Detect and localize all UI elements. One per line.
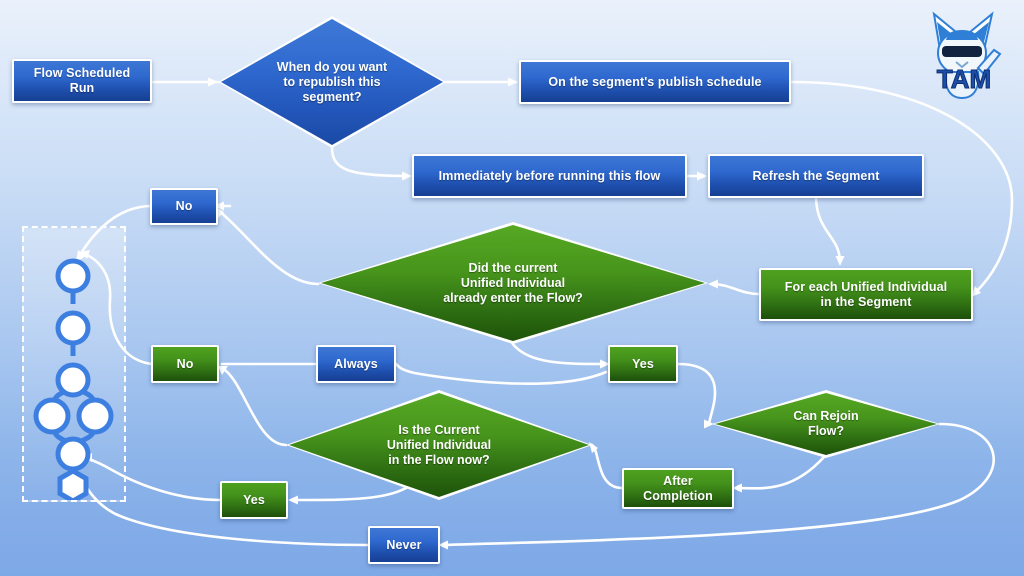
- flow-node-5: [58, 439, 88, 469]
- node-label: Never: [386, 538, 421, 553]
- flow-node-exit-hexagon: [60, 471, 86, 500]
- node-can-rejoin-flow[interactable]: Can Rejoin Flow?: [712, 390, 940, 458]
- node-label: Flow Scheduled Run: [34, 66, 131, 96]
- diamond-face: [289, 393, 589, 497]
- diamond-face: [321, 225, 705, 341]
- node-always[interactable]: Always: [316, 345, 396, 383]
- node-no-rejoin[interactable]: No: [151, 345, 219, 383]
- flow-canvas-thumbnail[interactable]: [22, 226, 126, 502]
- node-when-republish[interactable]: When do you want to republish this segme…: [218, 16, 446, 148]
- node-flow-scheduled-run[interactable]: Flow Scheduled Run: [12, 59, 152, 103]
- node-already-entered-flow[interactable]: Did the current Unified Individual alrea…: [318, 222, 708, 344]
- flow-node-4b: [79, 400, 111, 432]
- node-label: Refresh the Segment: [753, 169, 880, 184]
- flow-widget-graph: [24, 228, 124, 500]
- node-after-completion[interactable]: After Completion: [622, 468, 734, 509]
- node-immediately-before[interactable]: Immediately before running this flow: [412, 154, 687, 198]
- flow-node-4a: [36, 400, 68, 432]
- node-label: Immediately before running this flow: [439, 169, 661, 184]
- diamond-face: [221, 19, 443, 145]
- node-on-publish-schedule[interactable]: On the segment's publish schedule: [519, 60, 791, 104]
- node-no-upper[interactable]: No: [150, 188, 218, 225]
- node-never[interactable]: Never: [368, 526, 440, 564]
- node-label: Yes: [243, 493, 265, 508]
- node-label: On the segment's publish schedule: [548, 75, 761, 90]
- node-label: Always: [334, 357, 378, 372]
- flow-node-3: [58, 365, 88, 395]
- node-refresh-segment[interactable]: Refresh the Segment: [708, 154, 924, 198]
- node-label: No: [177, 357, 194, 372]
- tam-logo: TAM: [916, 6, 1012, 106]
- node-label: For each Unified Individual in the Segme…: [785, 280, 947, 310]
- flow-node-1: [58, 261, 88, 291]
- flow-node-2: [58, 313, 88, 343]
- node-yes-in-flow[interactable]: Yes: [220, 481, 288, 519]
- node-for-each-unified-individual[interactable]: For each Unified Individual in the Segme…: [759, 268, 973, 321]
- node-in-flow-now[interactable]: Is the Current Unified Individual in the…: [286, 390, 592, 500]
- diamond-face: [715, 393, 937, 455]
- node-yes-already-entered[interactable]: Yes: [608, 345, 678, 383]
- node-label: After Completion: [643, 474, 713, 504]
- node-label: No: [176, 199, 193, 214]
- flowchart-canvas: TAM Flow Scheduled Run When do you want …: [0, 0, 1024, 576]
- node-label: Yes: [632, 357, 654, 372]
- svg-text:TAM: TAM: [937, 64, 991, 94]
